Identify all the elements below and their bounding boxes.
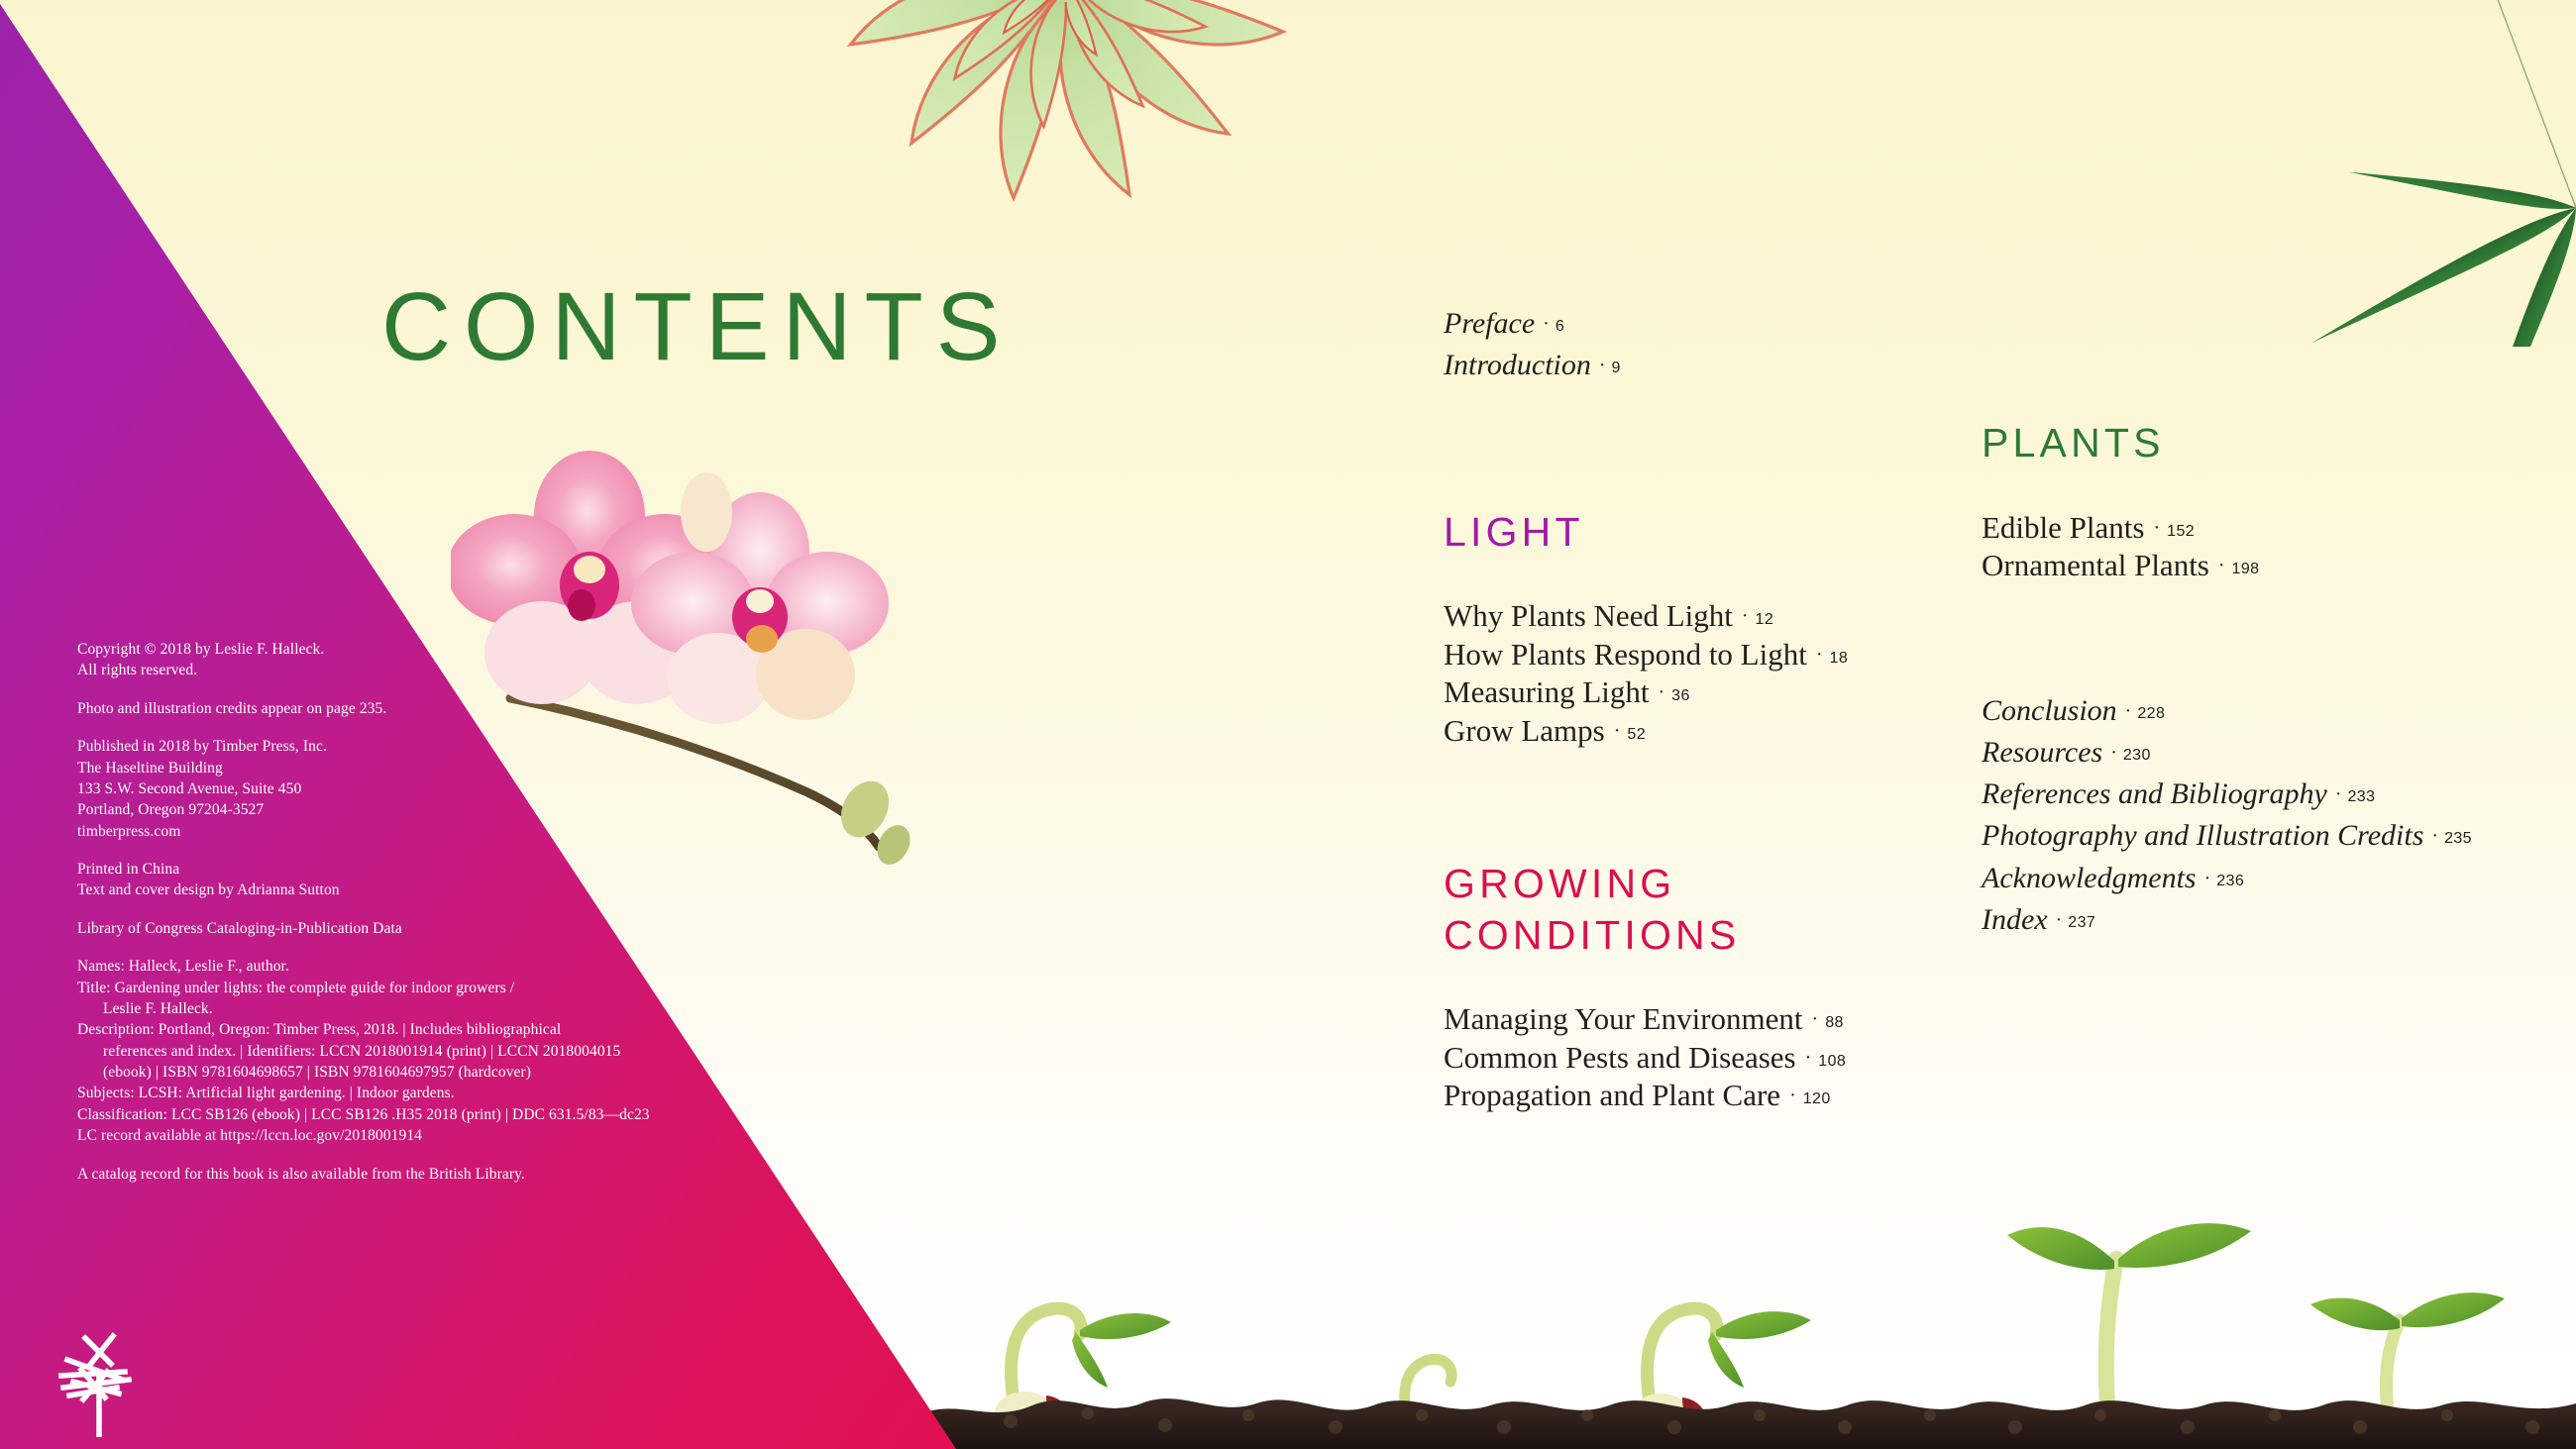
toc-label: Edible Plants [1982,510,2144,545]
separator-dot: · [2153,516,2160,541]
toc-entry-preface[interactable]: Preface·6 [1444,303,1959,345]
toc-label: Why Plants Need Light [1444,598,1733,633]
separator-dot: · [1742,604,1749,629]
loc-title-line-1: Title: Gardening under lights: the compl… [77,980,514,996]
toc-entry-edible-plants[interactable]: Edible Plants·152 [1982,509,2536,547]
british-library-paragraph: A catalog record for this book is also a… [77,1164,711,1185]
toc-page-number: 237 [2068,914,2095,931]
publisher-paragraph: Published in 2018 by Timber Press, Inc. … [77,736,711,842]
design-credit-line: Text and cover design by Adrianna Sutton [77,881,340,898]
toc-page-number: 9 [1612,360,1621,376]
cannabis-leaf-image [2180,0,2576,347]
toc-label: Measuring Light [1444,674,1650,709]
toc-label: Acknowledgments [1982,862,2197,894]
section-heading-growing-conditions: GROWING CONDITIONS [1444,859,1959,961]
separator-dot: · [2204,865,2211,892]
toc-entry-grow-lamps[interactable]: Grow Lamps·52 [1444,712,1959,750]
separator-dot: · [1816,643,1823,668]
back-matter-list: Conclusion·228 Resources·230 References … [1982,690,2536,942]
toc-page-number: 152 [2167,523,2195,540]
toc-label: Managing Your Environment [1444,1001,1803,1036]
colophon-block: Copyright © 2018 by Leslie F. Halleck. A… [77,639,711,1185]
separator-dot: · [2218,554,2225,578]
toc-page-number: 233 [2347,788,2375,805]
section-heading-light: LIGHT [1444,507,1959,559]
separator-dot: · [1805,1046,1812,1071]
front-matter-list: Preface·6 Introduction·9 [1444,303,1959,387]
toc-entry-acknowledgments[interactable]: Acknowledgments·236 [1982,858,2536,899]
section-heading-plants: PLANTS [1982,418,2536,469]
timber-press-tree-logo [40,1320,159,1437]
book-contents-page: Copyright © 2018 by Leslie F. Halleck. A… [0,0,2576,1449]
toc-entry-conclusion[interactable]: Conclusion·228 [1982,690,2536,732]
toc-label: Introduction [1444,349,1591,381]
loc-title-line-2: Leslie F. Halleck. [77,998,711,1019]
photo-credits-paragraph: Photo and illustration credits appear on… [77,698,711,719]
succulent-rosette-image [788,0,1342,258]
separator-dot: · [1614,719,1621,744]
toc-page-number: 18 [1830,650,1849,667]
british-library-line: A catalog record for this book is also a… [77,1166,525,1183]
production-paragraph: Printed in China Text and cover design b… [77,859,711,901]
building-line: The Haseltine Building [77,760,223,776]
separator-dot: · [2125,697,2132,725]
toc-entry-references-and-bibliography[interactable]: References and Bibliography·233 [1982,774,2536,815]
loc-heading-paragraph: Library of Congress Cataloging-in-Public… [77,918,711,939]
toc-entry-why-plants-need-light[interactable]: Why Plants Need Light·12 [1444,597,1959,635]
toc-label: References and Bibliography [1982,777,2327,810]
toc-page-number: 236 [2216,873,2244,889]
bean-seedlings-image [921,1201,2576,1449]
toc-label: Photography and Illustration Credits [1982,819,2423,852]
toc-column-right: PLANTS Edible Plants·152 Ornamental Plan… [1982,303,2536,941]
toc-page-number: 198 [2232,561,2260,577]
copyright-paragraph: Copyright © 2018 by Leslie F. Halleck. A… [77,639,711,681]
loc-subjects: Subjects: LCSH: Artificial light gardeni… [77,1085,455,1101]
toc-label: How Plants Respond to Light [1444,637,1807,672]
section-entries-light: Why Plants Need Light·12 How Plants Resp… [1444,597,1959,750]
toc-entry-how-plants-respond-to-light[interactable]: How Plants Respond to Light·18 [1444,636,1959,673]
toc-entry-photography-and-illustration-credits[interactable]: Photography and Illustration Credits·235 [1982,815,2536,857]
toc-page-number: 120 [1803,1090,1831,1107]
section-entries-growing-conditions: Managing Your Environment·88 Common Pest… [1444,1000,1959,1114]
loc-heading: Library of Congress Cataloging-in-Public… [77,920,402,937]
toc-entry-measuring-light[interactable]: Measuring Light·36 [1444,673,1959,711]
photo-credits-line: Photo and illustration credits appear on… [77,700,386,717]
toc-label: Propagation and Plant Care [1444,1078,1780,1112]
toc-page-number: 108 [1818,1053,1846,1070]
publisher-line: Published in 2018 by Timber Press, Inc. [77,738,327,755]
copyright-line: Copyright © 2018 by Leslie F. Halleck. [77,641,324,658]
separator-dot: · [1659,680,1665,705]
toc-page-number: 235 [2444,830,2472,847]
rights-line: All rights reserved. [77,662,197,678]
toc-label: Ornamental Plants [1982,548,2209,582]
toc-page-number: 230 [2123,747,2151,764]
toc-entry-ornamental-plants[interactable]: Ornamental Plants·198 [1982,547,2536,584]
toc-label: Resources [1982,736,2102,769]
toc-label: Common Pests and Diseases [1444,1040,1796,1075]
loc-description-line-2: references and index. | Identifiers: LCC… [77,1041,711,1062]
separator-dot: · [2431,822,2438,850]
toc-entry-introduction[interactable]: Introduction·9 [1444,345,1959,386]
loc-record-url[interactable]: LC record available at https://lccn.loc.… [77,1127,422,1144]
toc-label: Index [1982,903,2048,936]
separator-dot: · [1812,1007,1819,1032]
toc-page-number: 6 [1556,318,1564,335]
separator-dot: · [2335,780,2342,808]
toc-label: Grow Lamps [1444,713,1605,748]
toc-entry-propagation-and-plant-care[interactable]: Propagation and Plant Care·120 [1444,1077,1959,1114]
toc-page-number: 52 [1627,726,1646,743]
city-line: Portland, Oregon 97204-3527 [77,801,264,818]
page-title: CONTENTS [381,278,1014,374]
toc-entry-common-pests-and-diseases[interactable]: Common Pests and Diseases·108 [1444,1039,1959,1077]
loc-description-line-3: (ebook) | ISBN 9781604698657 | ISBN 9781… [77,1062,711,1083]
separator-dot: · [1789,1084,1796,1108]
toc-page-number: 88 [1825,1014,1844,1031]
separator-dot: · [1599,352,1606,379]
street-line: 133 S.W. Second Avenue, Suite 450 [77,780,301,797]
loc-description-line-1: Description: Portland, Oregon: Timber Pr… [77,1021,561,1038]
loc-classification: Classification: LCC SB126 (ebook) | LCC … [77,1106,650,1123]
printed-line: Printed in China [77,861,179,878]
toc-entry-managing-your-environment[interactable]: Managing Your Environment·88 [1444,1000,1959,1038]
separator-dot: · [1543,310,1550,338]
section-entries-plants: Edible Plants·152 Ornamental Plants·198 [1982,509,2536,585]
loc-data-paragraph: Names: Halleck, Leslie F., author. Title… [77,956,711,1146]
toc-column-middle: Preface·6 Introduction·9 LIGHT Why Plant… [1444,303,1959,1115]
website-line[interactable]: timberpress.com [77,823,180,840]
toc-entry-resources[interactable]: Resources·230 [1982,732,2536,774]
toc-entry-index[interactable]: Index·237 [1982,899,2536,941]
toc-page-number: 12 [1756,611,1774,628]
toc-page-number: 228 [2137,705,2165,722]
toc-label: Conclusion [1982,694,2117,727]
toc-page-number: 36 [1671,687,1690,704]
separator-dot: · [2110,739,2117,767]
separator-dot: · [2056,906,2063,934]
toc-label: Preface [1444,307,1535,340]
loc-names: Names: Halleck, Leslie F., author. [77,958,289,975]
